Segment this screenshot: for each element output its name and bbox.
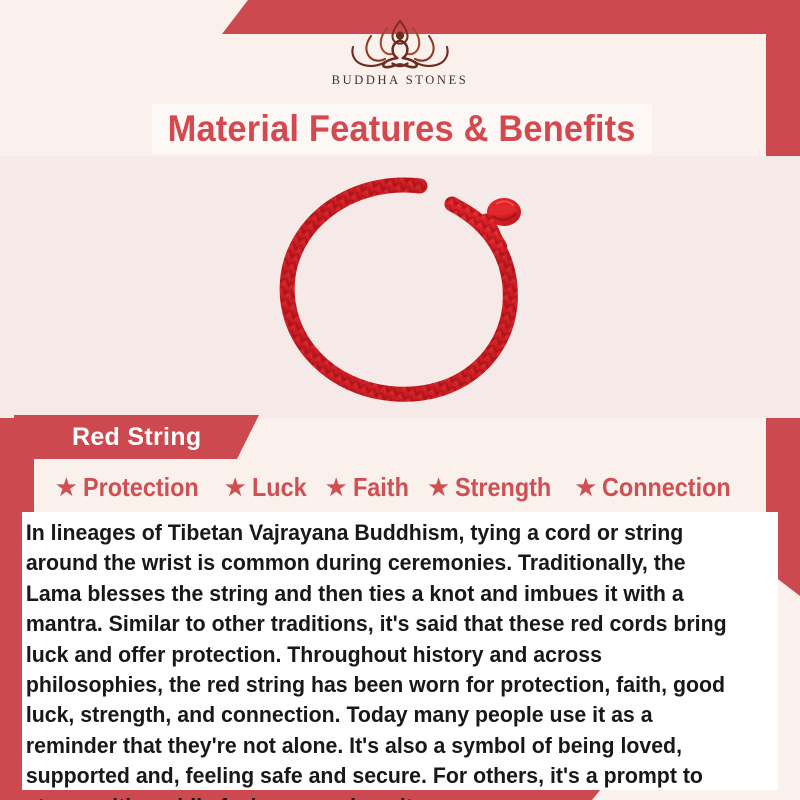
feature-item: ★ Luck [223, 472, 312, 503]
feature-label: Luck [252, 472, 307, 503]
star-icon: ★ [223, 474, 246, 500]
lotus-meditation-icon [325, 14, 475, 72]
feature-item: ★ Connection [574, 472, 745, 503]
star-icon: ★ [574, 474, 597, 500]
star-icon: ★ [324, 474, 347, 500]
feature-item: ★ Protection [55, 472, 212, 503]
title-banner: Material Features & Benefits [152, 104, 652, 154]
product-photo-panel [0, 156, 800, 418]
feature-list: ★ Protection ★ Luck ★ Faith ★ Strength ★… [0, 462, 800, 512]
description-text: In lineages of Tibetan Vajrayana Buddhis… [22, 512, 744, 800]
description-panel: In lineages of Tibetan Vajrayana Buddhis… [22, 512, 778, 790]
brand-header: BUDDHA STONES [0, 14, 800, 98]
feature-label: Faith [353, 472, 409, 503]
feature-label: Protection [83, 472, 199, 503]
product-label: Red String [72, 423, 201, 452]
page-title: Material Features & Benefits [168, 108, 636, 150]
infographic-page: BUDDHA STONES Material Features & Benefi… [0, 0, 800, 800]
product-label-banner: Red String [14, 415, 259, 459]
feature-label: Connection [602, 472, 731, 503]
feature-item: ★ Strength [427, 472, 562, 503]
product-photo [0, 156, 800, 418]
red-string-bracelet-image [238, 164, 568, 414]
feature-item: ★ Faith [324, 472, 414, 503]
feature-label: Strength [455, 472, 551, 503]
star-icon: ★ [427, 474, 450, 500]
brand-name: BUDDHA STONES [332, 73, 469, 88]
star-icon: ★ [55, 474, 78, 500]
